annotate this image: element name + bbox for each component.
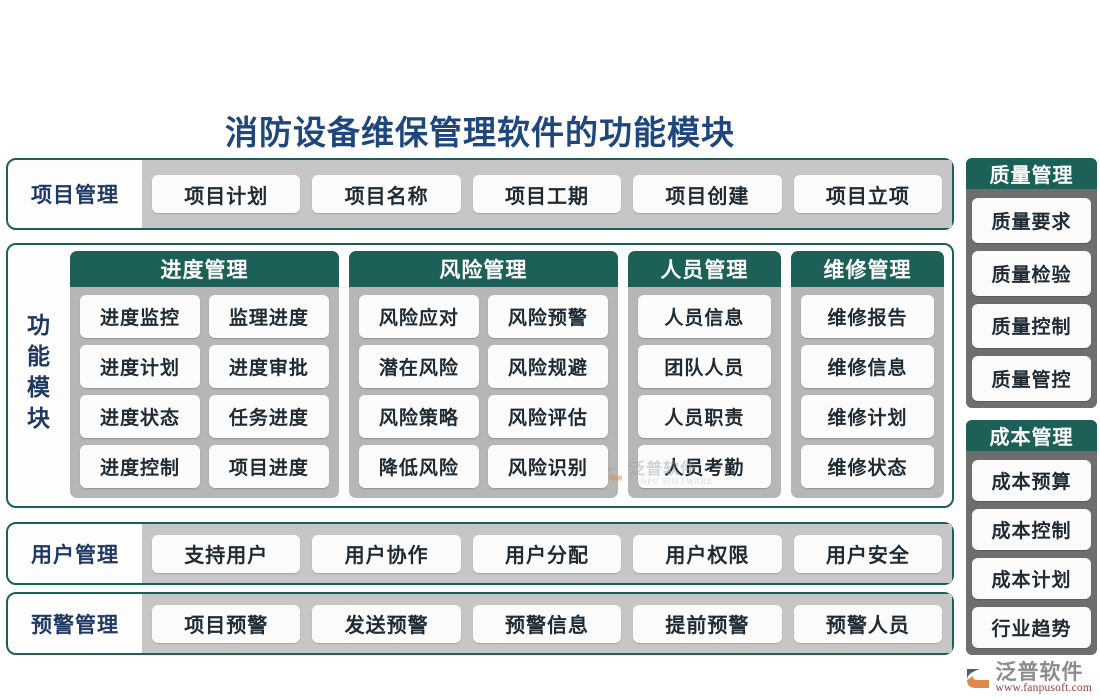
function-module-panel: 功能模块 进度管理进度监控监理进度进度计划进度审批进度状态任务进度进度控制项目进… (6, 243, 954, 508)
user-row-items: 支持用户用户协作用户分配用户权限用户安全 (142, 524, 952, 583)
module-cell-3-3[interactable]: 人员职责 (638, 395, 771, 438)
cost-management-column: 成本管理 成本预算成本控制成本计划行业趋势 (966, 420, 1097, 655)
alert-chip-4[interactable]: 提前预警 (633, 605, 781, 643)
alert-chip-2[interactable]: 发送预警 (312, 605, 460, 643)
module-columns: 进度管理进度监控监理进度进度计划进度审批进度状态任务进度进度控制项目进度风险管理… (70, 251, 944, 498)
alert-band: 预警管理 项目预警发送预警预警信息提前预警预警人员 (8, 594, 952, 653)
watermark-name: 泛普软件 (629, 462, 713, 478)
center-watermark: 泛普软件 FANPU SOFTWARE (606, 462, 713, 486)
module-column-header-3[interactable]: 人员管理 (628, 251, 781, 287)
user-chip-5[interactable]: 用户安全 (794, 535, 942, 573)
cost-item-4[interactable]: 行业趋势 (972, 607, 1091, 648)
module-cell-2-5[interactable]: 风险策略 (359, 395, 479, 438)
logo-name: 泛普软件 (995, 662, 1092, 683)
module-cell-1-5[interactable]: 进度状态 (80, 395, 200, 438)
cost-item-3[interactable]: 成本计划 (972, 558, 1091, 599)
quality-management-items: 质量要求质量检验质量控制质量管控 (972, 189, 1091, 401)
module-cell-2-1[interactable]: 风险应对 (359, 295, 479, 338)
project-band: 项目管理 项目计划项目名称项目工期项目创建项目立项 (8, 160, 952, 228)
module-column-body-4: 维修报告维修信息维修计划维修状态 (791, 287, 944, 498)
module-cell-2-8[interactable]: 风险识别 (488, 445, 608, 488)
alert-chip-5[interactable]: 预警人员 (794, 605, 942, 643)
module-cell-1-7[interactable]: 进度控制 (80, 445, 200, 488)
page-root: 消防设备维保管理软件的功能模块 项目管理 项目计划项目名称项目工期项目创建项目立… (0, 0, 1100, 700)
cost-item-1[interactable]: 成本预算 (972, 460, 1091, 501)
user-chip-3[interactable]: 用户分配 (473, 535, 621, 573)
module-cell-1-6[interactable]: 任务进度 (209, 395, 329, 438)
quality-item-2[interactable]: 质量检验 (972, 251, 1091, 296)
module-cell-2-2[interactable]: 风险预警 (488, 295, 608, 338)
fanpu-logo-icon (965, 667, 991, 689)
module-cell-3-1[interactable]: 人员信息 (638, 295, 771, 338)
watermark-text: 泛普软件 FANPU SOFTWARE (629, 462, 713, 486)
cost-management-header: 成本管理 (966, 420, 1097, 451)
project-chip-1[interactable]: 项目计划 (152, 175, 300, 213)
module-cell-1-4[interactable]: 进度审批 (209, 345, 329, 388)
cost-management-items: 成本预算成本控制成本计划行业趋势 (972, 451, 1091, 648)
module-column-1: 进度管理进度监控监理进度进度计划进度审批进度状态任务进度进度控制项目进度 (70, 251, 339, 498)
alert-row-items: 项目预警发送预警预警信息提前预警预警人员 (142, 594, 952, 653)
user-band: 用户管理 支持用户用户协作用户分配用户权限用户安全 (8, 524, 952, 583)
project-row-items: 项目计划项目名称项目工期项目创建项目立项 (142, 160, 952, 228)
module-inner: 功能模块 进度管理进度监控监理进度进度计划进度审批进度状态任务进度进度控制项目进… (8, 245, 952, 506)
user-row-label: 用户管理 (8, 524, 142, 583)
module-cell-4-3[interactable]: 维修计划 (801, 395, 934, 438)
project-chip-4[interactable]: 项目创建 (633, 175, 781, 213)
module-cell-2-6[interactable]: 风险评估 (488, 395, 608, 438)
module-cell-4-4[interactable]: 维修状态 (801, 445, 934, 488)
quality-management-column: 质量管理 质量要求质量检验质量控制质量管控 (966, 158, 1097, 408)
module-cell-3-2[interactable]: 团队人员 (638, 345, 771, 388)
user-chip-4[interactable]: 用户权限 (633, 535, 781, 573)
alert-chip-1[interactable]: 项目预警 (152, 605, 300, 643)
module-cell-4-1[interactable]: 维修报告 (801, 295, 934, 338)
module-column-4: 维修管理维修报告维修信息维修计划维修状态 (791, 251, 944, 498)
logo-url: www.fanpusoft.com (995, 683, 1092, 695)
user-chip-1[interactable]: 支持用户 (152, 535, 300, 573)
module-cell-1-8[interactable]: 项目进度 (209, 445, 329, 488)
quality-item-4[interactable]: 质量管控 (972, 356, 1091, 401)
module-column-header-2[interactable]: 风险管理 (349, 251, 618, 287)
alert-management-row: 预警管理 项目预警发送预警预警信息提前预警预警人员 (6, 592, 954, 655)
project-row-label: 项目管理 (8, 160, 142, 228)
user-chip-2[interactable]: 用户协作 (312, 535, 460, 573)
project-chip-5[interactable]: 项目立项 (794, 175, 942, 213)
project-management-row: 项目管理 项目计划项目名称项目工期项目创建项目立项 (6, 158, 954, 230)
module-cell-1-3[interactable]: 进度计划 (80, 345, 200, 388)
module-cell-2-7[interactable]: 降低风险 (359, 445, 479, 488)
quality-item-1[interactable]: 质量要求 (972, 198, 1091, 243)
module-column-body-2: 风险应对风险预警潜在风险风险规避风险策略风险评估降低风险风险识别 (349, 287, 618, 498)
module-column-header-1[interactable]: 进度管理 (70, 251, 339, 287)
fanpu-logo: 泛普软件 www.fanpusoft.com (965, 662, 1092, 695)
module-cell-2-4[interactable]: 风险规避 (488, 345, 608, 388)
fanpu-logo-text: 泛普软件 www.fanpusoft.com (995, 662, 1092, 695)
module-cell-1-1[interactable]: 进度监控 (80, 295, 200, 338)
quality-management-header: 质量管理 (966, 158, 1097, 189)
module-column-body-1: 进度监控监理进度进度计划进度审批进度状态任务进度进度控制项目进度 (70, 287, 339, 498)
module-cell-4-2[interactable]: 维修信息 (801, 345, 934, 388)
alert-chip-3[interactable]: 预警信息 (473, 605, 621, 643)
watermark-sub: FANPU SOFTWARE (629, 478, 713, 486)
module-cell-2-3[interactable]: 潜在风险 (359, 345, 479, 388)
page-title: 消防设备维保管理软件的功能模块 (0, 106, 960, 154)
alert-row-label: 预警管理 (8, 594, 142, 653)
project-chip-2[interactable]: 项目名称 (312, 175, 460, 213)
module-cell-1-2[interactable]: 监理进度 (209, 295, 329, 338)
user-management-row: 用户管理 支持用户用户协作用户分配用户权限用户安全 (6, 522, 954, 585)
module-column-header-4[interactable]: 维修管理 (791, 251, 944, 287)
fanpu-logo-icon (606, 466, 625, 482)
cost-item-2[interactable]: 成本控制 (972, 509, 1091, 550)
function-module-label: 功能模块 (12, 251, 60, 498)
module-column-2: 风险管理风险应对风险预警潜在风险风险规避风险策略风险评估降低风险风险识别 (349, 251, 618, 498)
quality-item-3[interactable]: 质量控制 (972, 304, 1091, 349)
project-chip-3[interactable]: 项目工期 (473, 175, 621, 213)
